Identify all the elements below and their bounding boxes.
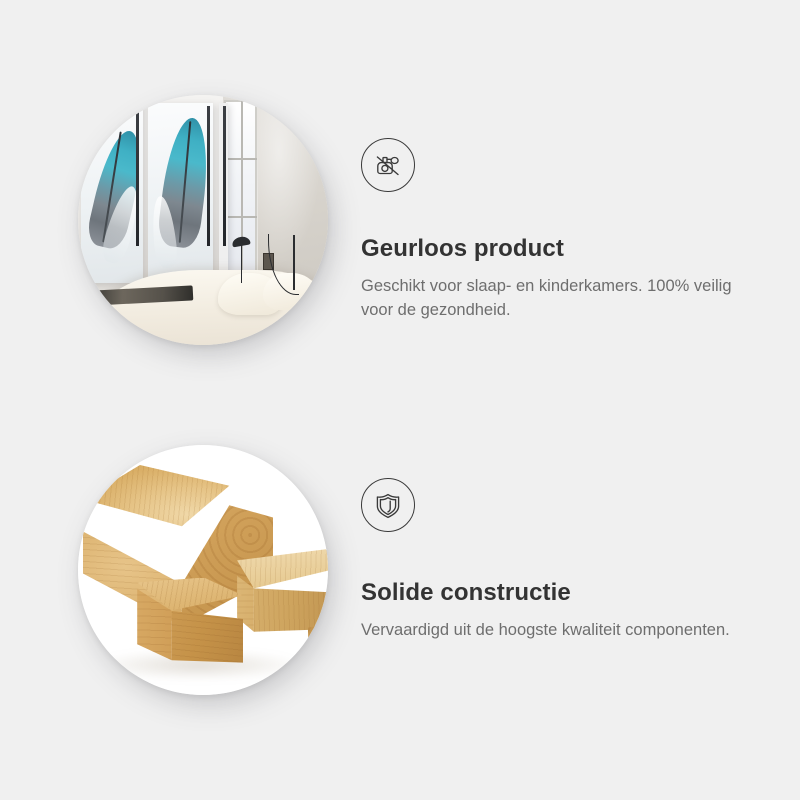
feature-text-group: Solide constructie Vervaardigd uit de ho… [361,478,781,643]
canvas-panel-center [148,103,213,283]
photo-inner [78,445,328,695]
canvas-edge-dark [136,106,139,246]
shield-icon [361,478,415,532]
canvas-panel-left [81,103,144,283]
feature-image-bedroom [78,95,328,345]
photo-inner [78,95,328,345]
bedroom-scene [78,95,328,345]
feature-block-odorless: Geurloos product Geschikt voor slaap- en… [0,70,800,360]
canvas-edge-dark [223,106,226,246]
feature-image-wood [78,445,328,695]
no-fragrance-icon [361,138,415,192]
arc-lamp-pole [293,235,295,290]
feature-block-solid-construction: Solide constructie Vervaardigd uit de ho… [0,420,800,710]
feature-description: Vervaardigd uit de hoogste kwaliteit com… [361,619,749,643]
feature-title: Solide constructie [361,579,781,607]
floor-lamp [241,243,243,283]
feature-description: Geschikt voor slaap- en kinderkamers. 10… [361,275,749,323]
canvas-panel-right [219,103,228,283]
wooden-beams-scene [78,445,328,695]
feature-text-group: Geurloos product Geschikt voor slaap- en… [361,138,781,323]
canvas-edge-dark [207,106,210,246]
feature-title: Geurloos product [361,235,781,263]
